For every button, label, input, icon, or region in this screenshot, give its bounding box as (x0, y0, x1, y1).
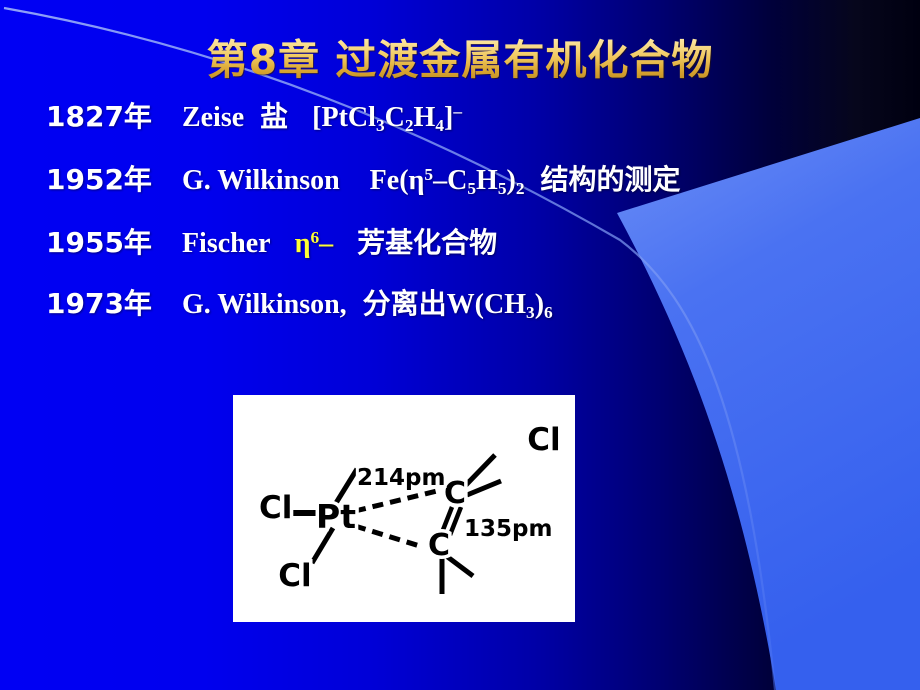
entry-formula-close: ) (535, 289, 544, 320)
bond-c-upper-h2 (467, 481, 501, 495)
entry-year: 1955年 (46, 226, 152, 259)
entry-formula: W(CH (447, 289, 526, 320)
entry-eta: η (295, 228, 311, 259)
entry-subscript-2: 5 (498, 179, 507, 198)
entry-formula-pre: Fe( (370, 165, 409, 196)
timeline-entry-1827: 1827年Zeise盐[PtCl3C2H4]– (46, 103, 906, 134)
zeise-salt-structure-panel: Cl Cl Pt Cl C C 214pm 135pm (233, 395, 575, 622)
slide-root: 第8章 过渡金属有机化合物 1827年Zeise盐[PtCl3C2H4]– 19… (0, 0, 920, 690)
entry-year: 1827年 (46, 100, 152, 133)
atom-label-cl-top: Cl (527, 422, 560, 458)
entry-cn-mid: 分离出 (363, 287, 447, 320)
entry-subscript-1: 3 (376, 116, 385, 135)
bond-c-upper-h1 (464, 455, 495, 487)
entry-name: G. Wilkinson (182, 165, 340, 196)
entry-formula-mid-2: H (414, 102, 436, 133)
entry-formula-open: [PtCl (312, 102, 376, 133)
timeline-entry-1973: 1973年G. Wilkinson,分离出W(CH3)6 (46, 290, 906, 321)
atom-label-cl-bottom: Cl (278, 558, 311, 594)
entry-formula-dash: –C (433, 165, 467, 196)
entry-name: Zeise (182, 102, 244, 133)
atom-label-cl-left: Cl (259, 490, 292, 526)
entry-formula-close: ] (444, 102, 453, 133)
content-lines: 1827年Zeise盐[PtCl3C2H4]– 1952年G. Wilkinso… (46, 103, 906, 354)
entry-formula-dash: – (319, 228, 333, 259)
entry-formula-mid-1: H (476, 165, 498, 196)
atom-label-c-upper: C (444, 476, 466, 511)
timeline-entry-1952: 1952年G. WilkinsonFe(η5–C5H5)2结构的测定 (46, 166, 906, 197)
entry-name: Fischer (182, 228, 271, 259)
entry-eta-superscript: 5 (424, 165, 433, 184)
entry-formula-mid-1: C (385, 102, 405, 133)
entry-subscript-3: 2 (516, 179, 525, 198)
atom-label-pt: Pt (316, 497, 356, 536)
atom-label-c-lower: C (428, 528, 450, 563)
entry-eta: η (409, 165, 425, 196)
bond-pt-c-upper-dashed (355, 491, 437, 511)
entry-charge: – (453, 102, 462, 121)
entry-cn-word: 盐 (260, 100, 288, 133)
entry-formula-close: ) (507, 165, 516, 196)
entry-eta-superscript: 6 (310, 228, 319, 247)
entry-name: G. Wilkinson, (182, 289, 347, 320)
entry-cn-tail: 结构的测定 (541, 163, 681, 196)
bond-distance-label-135pm: 135pm (464, 516, 552, 542)
entry-year: 1952年 (46, 163, 152, 196)
bond-distance-label-214pm: 214pm (357, 465, 445, 491)
entry-subscript-1: 3 (526, 303, 535, 322)
entry-cn-tail: 芳基化合物 (357, 226, 497, 259)
entry-subscript-2: 2 (405, 116, 414, 135)
timeline-entry-1955: 1955年Fischerη6–芳基化合物 (46, 229, 906, 258)
bond-pt-c-lower-dashed (355, 526, 423, 547)
zeise-salt-structure-diagram: Cl Cl Pt Cl C C 214pm 135pm (233, 395, 575, 622)
entry-subscript-2: 6 (544, 303, 553, 322)
entry-subscript-3: 4 (435, 116, 444, 135)
entry-year: 1973年 (46, 287, 152, 320)
entry-subscript-1: 5 (467, 179, 476, 198)
